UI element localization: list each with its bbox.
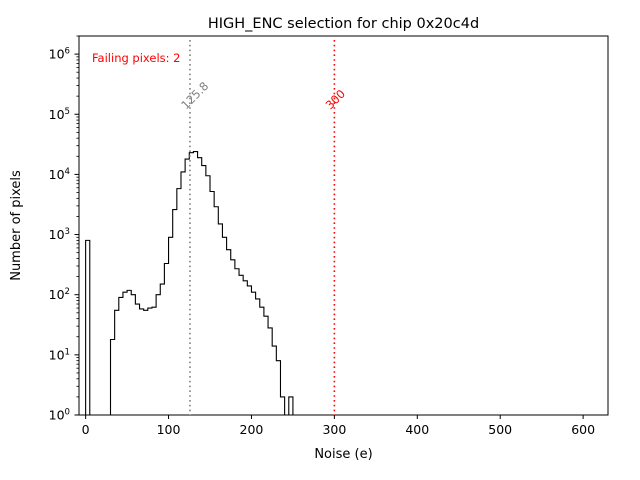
y-tick-label: 100 [49, 408, 70, 423]
x-tick-label: 600 [571, 422, 595, 437]
x-tick-label: 100 [157, 422, 181, 437]
x-axis-label: Noise (e) [314, 447, 372, 462]
y-tick-label: 103 [49, 227, 70, 242]
mean-marker-label: 125.8 [178, 79, 211, 112]
chart-title: HIGH_ENC selection for chip 0x20c4d [208, 16, 479, 32]
x-tick-label: 200 [240, 422, 264, 437]
threshold-marker-label: 300 [323, 87, 348, 112]
y-axis-label: Number of pixels [9, 170, 24, 281]
figure-canvas: HIGH_ENC selection for chip 0x20c4d01002… [0, 0, 640, 480]
x-tick-label: 500 [488, 422, 512, 437]
y-tick-label: 101 [49, 347, 70, 362]
histogram-outline [86, 152, 488, 415]
y-tick-label: 106 [49, 47, 70, 62]
y-tick-label: 102 [49, 287, 70, 302]
failing-pixels-annotation: Failing pixels: 2 [92, 51, 181, 65]
y-tick-label: 105 [49, 107, 70, 122]
y-tick-label: 104 [49, 167, 70, 182]
x-tick-label: 300 [322, 422, 346, 437]
x-tick-label: 0 [82, 422, 90, 437]
x-tick-label: 400 [405, 422, 429, 437]
histogram-chart: HIGH_ENC selection for chip 0x20c4d01002… [0, 0, 640, 480]
